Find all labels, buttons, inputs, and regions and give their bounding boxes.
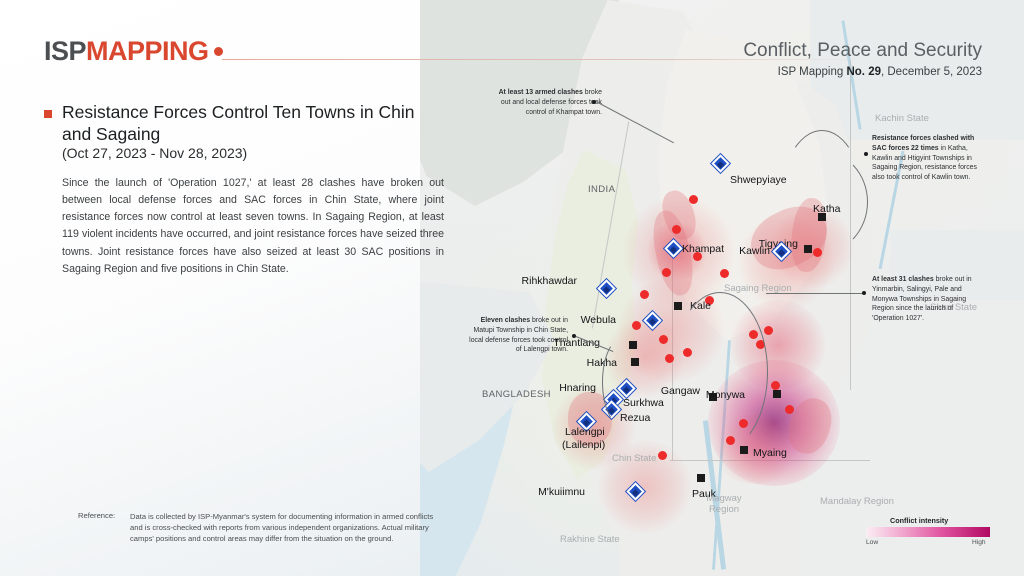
conflict-intensity-gradient (866, 527, 990, 537)
seized-sac-position-marker (640, 290, 649, 299)
country-label: BANGLADESH (482, 389, 551, 400)
reference-label: Reference: (78, 511, 115, 520)
callout-yinmarbin-leader (766, 293, 862, 294)
callout-kawlin-leader-arc (772, 150, 868, 254)
seized-sac-position-marker (659, 335, 668, 344)
country-label: INDIA (588, 184, 615, 195)
town-label: Myaing (753, 447, 787, 459)
seized-town-label: M'kuiimnu (538, 486, 585, 498)
conflict-intensity-low-label: Low (866, 539, 878, 546)
seized-sac-position-marker (764, 326, 773, 335)
publication-title: Conflict, Peace and Security (743, 40, 982, 62)
seized-town-label: Hnaring (559, 382, 596, 394)
town-marker[interactable] (697, 474, 705, 482)
seized-sac-position-marker (689, 195, 698, 204)
callout-khampat-bold: At least 13 armed clashes (499, 89, 583, 96)
issue-prefix: ISP Mapping (778, 66, 847, 78)
brand-mapping-text: MAPPING (86, 36, 209, 66)
seized-town-label: Kawlin (739, 245, 770, 257)
page-title: Resistance Forces Control Ten Towns in C… (62, 101, 442, 146)
region-label: Chin State (612, 453, 656, 464)
callout-yinmarbin: At least 31 clashes broke out in Yinmarb… (872, 275, 984, 324)
callout-yinmarbin-bold: At least 31 clashes (872, 276, 934, 283)
date-range: (Oct 27, 2023 - Nov 28, 2023) (62, 145, 247, 161)
region-label: Rakhine State (560, 534, 620, 545)
seized-sac-position-marker (658, 451, 667, 460)
callout-kawlin: Resistance forces clashed with SAC force… (872, 134, 982, 183)
town-marker[interactable] (773, 390, 781, 398)
region-label: Mandalay Region (820, 496, 894, 507)
border-south (670, 460, 870, 461)
issue-number: No. 29 (846, 66, 881, 78)
town-marker[interactable] (674, 302, 682, 310)
seized-sac-position-marker (662, 268, 671, 277)
seized-sac-position-marker (785, 405, 794, 414)
callout-matupi: Eleven clashes broke out in Matupi Towns… (462, 316, 568, 355)
seized-sac-position-marker (771, 381, 780, 390)
article-body: Since the launch of 'Operation 1027,' at… (62, 175, 444, 278)
issue-date: , December 5, 2023 (881, 66, 982, 78)
brand-dot-icon (214, 47, 223, 56)
callout-kawlin-anchor-dot (864, 152, 868, 156)
callout-yinmarbin-anchor-dot (862, 291, 866, 295)
seized-town-label: Webula (581, 314, 616, 326)
region-label: Kachin State (875, 113, 929, 124)
callout-yinmarbin-arc (672, 292, 768, 452)
seized-town-label: Lalengpi (565, 426, 605, 438)
seized-sac-position-marker (672, 225, 681, 234)
reference-text: Data is collected by ISP-Myanmar's syste… (130, 511, 446, 545)
seized-town-label-alt: (Lailenpi) (562, 439, 605, 451)
publication-issue: ISP Mapping No. 29, December 5, 2023 (778, 66, 982, 78)
brand-isp-text: ISP (44, 36, 86, 66)
seized-sac-position-marker (632, 321, 641, 330)
seized-sac-position-marker (720, 269, 729, 278)
callout-matupi-bold: Eleven clashes (481, 317, 530, 324)
conflict-intensity-title: Conflict intensity (890, 516, 948, 525)
seized-town-label: Rihkhawdar (522, 275, 577, 287)
headline-bullet-icon (44, 110, 52, 118)
callout-khampat: At least 13 armed clashes broke out and … (498, 88, 602, 117)
brand-logo[interactable]: ISPMAPPING (44, 36, 223, 67)
infographic-root: KaleThantlangHakhaGangawMonywaMyaingPauk… (0, 0, 1024, 576)
seized-town-label: Khampat (682, 243, 724, 255)
conflict-intensity-high-label: High (972, 539, 986, 546)
callout-matupi-arc (602, 338, 642, 426)
region-label: Magway Region (702, 493, 746, 515)
town-marker[interactable] (740, 446, 748, 454)
